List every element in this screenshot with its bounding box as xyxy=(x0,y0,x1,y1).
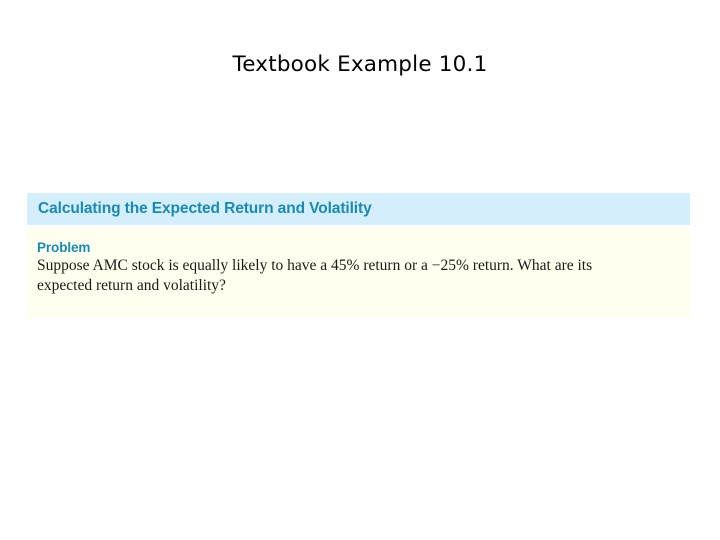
problem-statement: Suppose AMC stock is equally likely to h… xyxy=(37,256,682,296)
problem-statement-line-2: expected return and volatility? xyxy=(37,276,682,296)
problem-label: Problem xyxy=(37,240,680,255)
example-body-panel: Problem Suppose AMC stock is equally lik… xyxy=(27,228,690,318)
page-title: Textbook Example 10.1 xyxy=(0,52,720,77)
example-header-band: Calculating the Expected Return and Vola… xyxy=(27,193,690,225)
problem-statement-line-1: Suppose AMC stock is equally likely to h… xyxy=(37,257,592,274)
example-header-title: Calculating the Expected Return and Vola… xyxy=(38,200,372,218)
textbook-example-figure: Calculating the Expected Return and Vola… xyxy=(27,193,690,318)
